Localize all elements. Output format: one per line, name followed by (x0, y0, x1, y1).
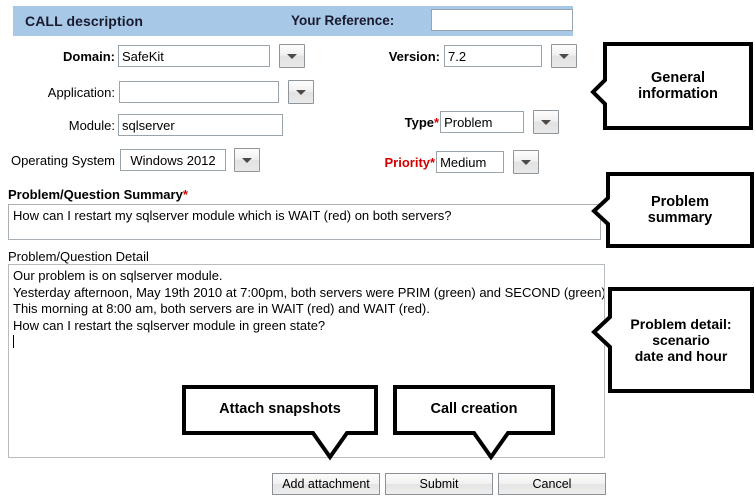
field-row-type: Type * Problem (330, 110, 559, 134)
summary-label-text: Problem/Question Summary (8, 187, 183, 202)
chevron-down-icon (242, 158, 252, 163)
field-row-operating-system: Operating System Windows 2012 (0, 148, 260, 172)
priority-label: Priority (330, 155, 430, 170)
priority-required-marker: * (430, 155, 435, 170)
priority-input[interactable]: Medium (436, 151, 504, 173)
callout-problem-detail (592, 287, 754, 393)
detail-line: This morning at 8:00 am, both servers ar… (13, 301, 600, 318)
domain-input[interactable]: SafeKit (118, 45, 270, 67)
detail-section-label: Problem/Question Detail (8, 249, 149, 264)
summary-required-marker: * (183, 187, 188, 202)
type-required-marker: * (434, 115, 439, 130)
application-dropdown-button[interactable] (288, 80, 314, 104)
callout-general-information (591, 42, 753, 130)
version-input[interactable]: 7.2 (444, 45, 542, 67)
field-row-module: Module: sqlserver (0, 114, 283, 136)
operating-system-label: Operating System (0, 153, 115, 168)
chevron-down-icon (559, 54, 569, 59)
call-description-header: CALL description Your Reference: (13, 6, 573, 36)
field-row-version: Version: 7.2 (330, 44, 577, 68)
callout-problem-summary (592, 172, 754, 248)
field-row-application: Application: (0, 80, 314, 104)
your-reference-label: Your Reference: (291, 13, 394, 28)
priority-dropdown-button[interactable] (513, 150, 539, 174)
version-dropdown-button[interactable] (551, 44, 577, 68)
application-label: Application: (0, 85, 115, 100)
field-row-priority: Priority * Medium (330, 150, 539, 174)
submit-button[interactable]: Submit (385, 473, 493, 495)
domain-label: Domain: (0, 49, 115, 64)
type-input[interactable]: Problem (440, 111, 524, 133)
callout-call-creation (393, 385, 555, 461)
module-input[interactable]: sqlserver (118, 114, 283, 136)
operating-system-input[interactable]: Windows 2012 (120, 149, 226, 171)
detail-line: How can I restart the sqlserver module i… (13, 318, 600, 335)
operating-system-dropdown-button[interactable] (234, 148, 260, 172)
chevron-down-icon (521, 160, 531, 165)
summary-input[interactable]: How can I restart my sqlserver module wh… (8, 204, 601, 240)
module-label: Module: (0, 118, 115, 133)
detail-line: Our problem is on sqlserver module. (13, 268, 600, 285)
your-reference-input[interactable] (431, 9, 573, 31)
callout-attach-snapshots (182, 385, 378, 461)
detail-line: Yesterday afternoon, May 19th 2010 at 7:… (13, 285, 600, 302)
cancel-button[interactable]: Cancel (498, 473, 606, 495)
version-label: Version: (330, 49, 440, 64)
page-title: CALL description (25, 13, 143, 29)
add-attachment-button[interactable]: Add attachment (272, 473, 380, 495)
detail-text-cursor (13, 334, 600, 351)
type-label: Type (330, 115, 434, 130)
chevron-down-icon (296, 90, 306, 95)
type-dropdown-button[interactable] (533, 110, 559, 134)
chevron-down-icon (541, 120, 551, 125)
domain-dropdown-button[interactable] (279, 44, 305, 68)
summary-section-label: Problem/Question Summary* (8, 187, 188, 202)
chevron-down-icon (287, 54, 297, 59)
application-input[interactable] (119, 81, 279, 103)
field-row-domain: Domain: SafeKit (0, 44, 305, 68)
